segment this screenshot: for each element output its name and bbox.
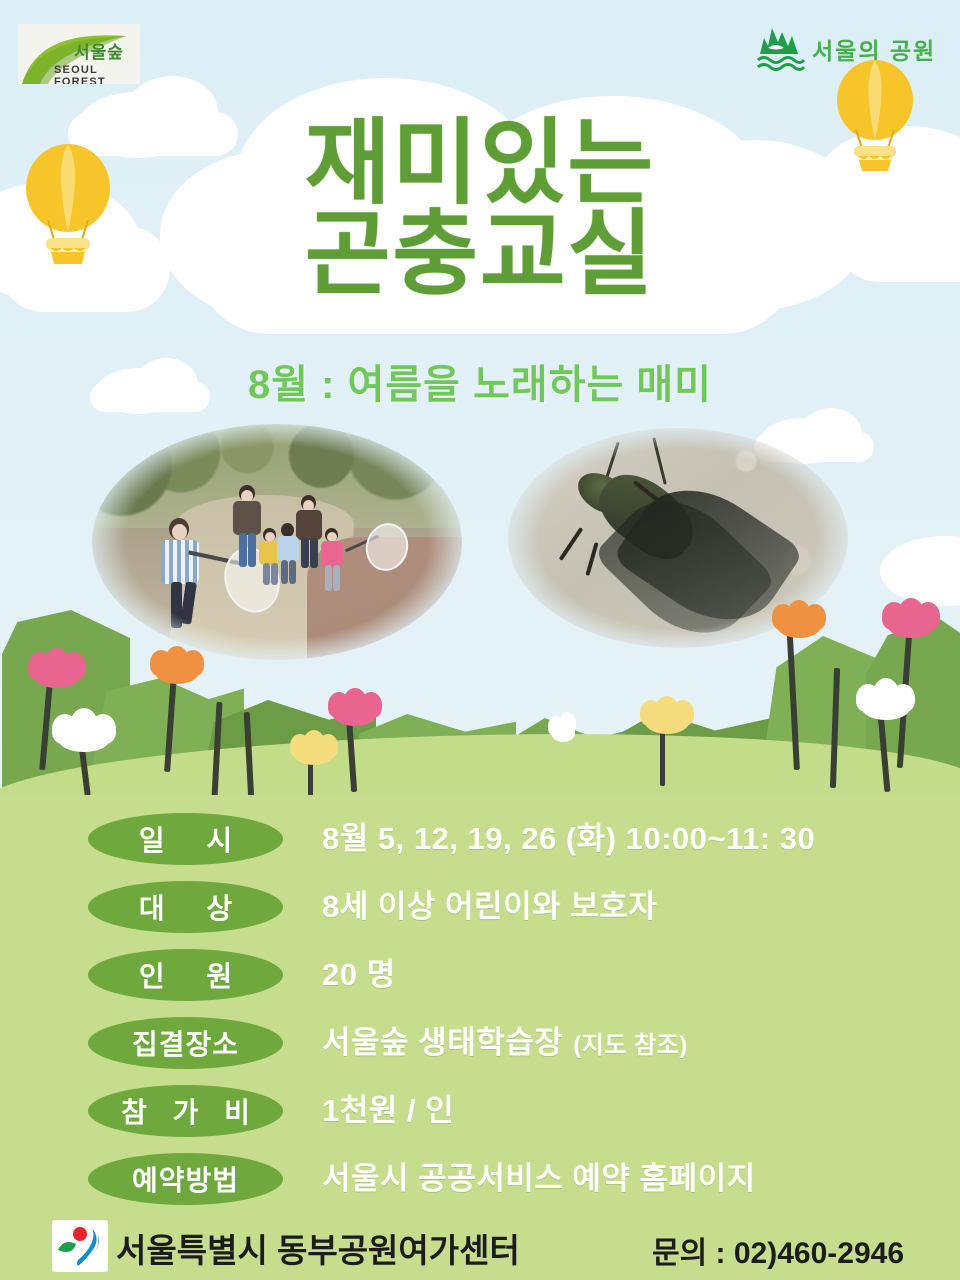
seoul-forest-kr: 서울숲 bbox=[74, 38, 124, 63]
hi-seoul-icon bbox=[52, 1220, 108, 1272]
info-label-pill: 집결장소 bbox=[88, 1017, 283, 1069]
info-value: 서울시 공공서비스 예약 홈페이지 bbox=[322, 1154, 756, 1204]
footer: 서울특별시 동부공원여가센터 문의 : 02)460-2946 bbox=[0, 1212, 960, 1280]
footer-contact: 문의 : 02)460-2946 bbox=[652, 1228, 904, 1272]
info-rows: 일 시 8월 5, 12, 19, 26 (화) 10:00~11: 30 대 … bbox=[0, 809, 960, 1217]
info-label: 참 가 비 bbox=[112, 1091, 259, 1131]
title-line-1: 재미있는 bbox=[0, 118, 960, 209]
title-line-2: 곤충교실 bbox=[0, 209, 960, 300]
info-row-capacity: 인 원 20 명 bbox=[0, 945, 960, 1007]
info-value: 1천원 / 인 bbox=[322, 1086, 454, 1136]
info-row-target: 대 상 8세 이상 어린이와 보호자 bbox=[0, 877, 960, 939]
info-label: 일 시 bbox=[122, 819, 249, 859]
info-value-text: 서울숲 생태학습장 bbox=[322, 1025, 563, 1060]
info-label: 대 상 bbox=[122, 887, 249, 927]
info-row-fee: 참 가 비 1천원 / 인 bbox=[0, 1081, 960, 1143]
info-row-datetime: 일 시 8월 5, 12, 19, 26 (화) 10:00~11: 30 bbox=[0, 809, 960, 871]
info-label-pill: 예약방법 bbox=[88, 1153, 283, 1205]
info-label: 인 원 bbox=[122, 955, 249, 995]
seoul-forest-en: SEOUL FOREST bbox=[54, 64, 140, 84]
info-label-pill: 일 시 bbox=[88, 813, 283, 865]
info-value: 20 명 bbox=[322, 950, 396, 1000]
poster-subtitle: 8월 : 여름을 노래하는 매미 bbox=[0, 352, 960, 410]
info-value: 서울숲 생태학습장(지도 참조) bbox=[322, 1018, 688, 1071]
info-label-pill: 대 상 bbox=[88, 881, 283, 933]
poster-title: 재미있는 곤충교실 bbox=[0, 118, 960, 300]
info-row-location: 집결장소 서울숲 생태학습장(지도 참조) bbox=[0, 1013, 960, 1075]
seoul-forest-logo: 서울숲 SEOUL FOREST bbox=[18, 24, 140, 84]
info-label-pill: 인 원 bbox=[88, 949, 283, 1001]
footer-organization: 서울특별시 동부공원여가센터 bbox=[116, 1224, 520, 1272]
info-label: 예약방법 bbox=[132, 1159, 239, 1199]
info-panel: 일 시 8월 5, 12, 19, 26 (화) 10:00~11: 30 대 … bbox=[0, 795, 960, 1280]
info-row-reservation: 예약방법 서울시 공공서비스 예약 홈페이지 bbox=[0, 1149, 960, 1211]
park-tree-water-icon bbox=[752, 22, 808, 76]
info-value: 8월 5, 12, 19, 26 (화) 10:00~11: 30 bbox=[322, 814, 815, 864]
info-label-pill: 참 가 비 bbox=[88, 1085, 283, 1137]
info-value-note: (지도 참조) bbox=[573, 1032, 687, 1059]
poster-root: 서울숲 SEOUL FOREST 서울의 공원 bbox=[0, 0, 960, 1280]
info-label: 집결장소 bbox=[132, 1023, 239, 1063]
seoul-city-logo bbox=[52, 1220, 108, 1272]
info-value: 8세 이상 어린이와 보호자 bbox=[322, 882, 657, 932]
